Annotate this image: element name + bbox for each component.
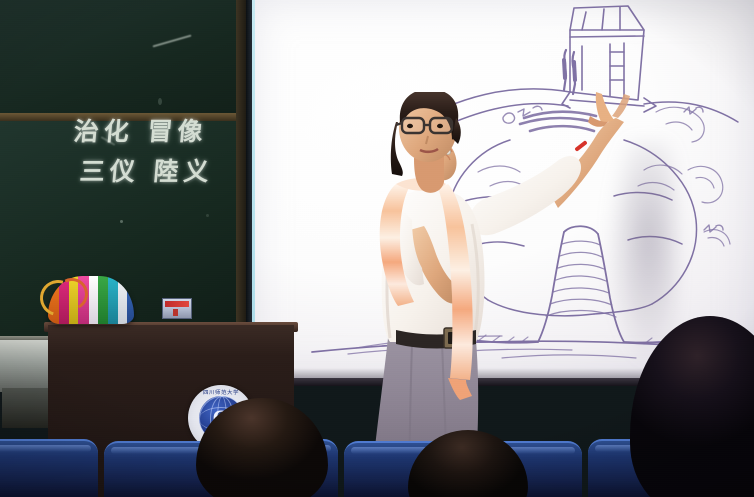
chalk-speck	[206, 214, 209, 217]
card-red-band	[165, 301, 189, 307]
card-mark	[173, 309, 178, 316]
side-desk-leg	[2, 388, 52, 428]
blackboard-upper-panel	[0, 0, 246, 113]
lecture-photo: 治化 冒像 三仪 陸义	[0, 0, 754, 497]
chalk-speck	[120, 220, 123, 223]
raised-arm	[470, 92, 630, 235]
chalk-speck	[158, 98, 162, 105]
glasses	[396, 118, 452, 133]
chalk-text-line-1: 治化 冒像	[72, 112, 209, 148]
seat[interactable]	[0, 439, 98, 497]
chalk-text-line-2: 三仪 陸义	[78, 152, 215, 188]
small-card	[162, 298, 192, 319]
